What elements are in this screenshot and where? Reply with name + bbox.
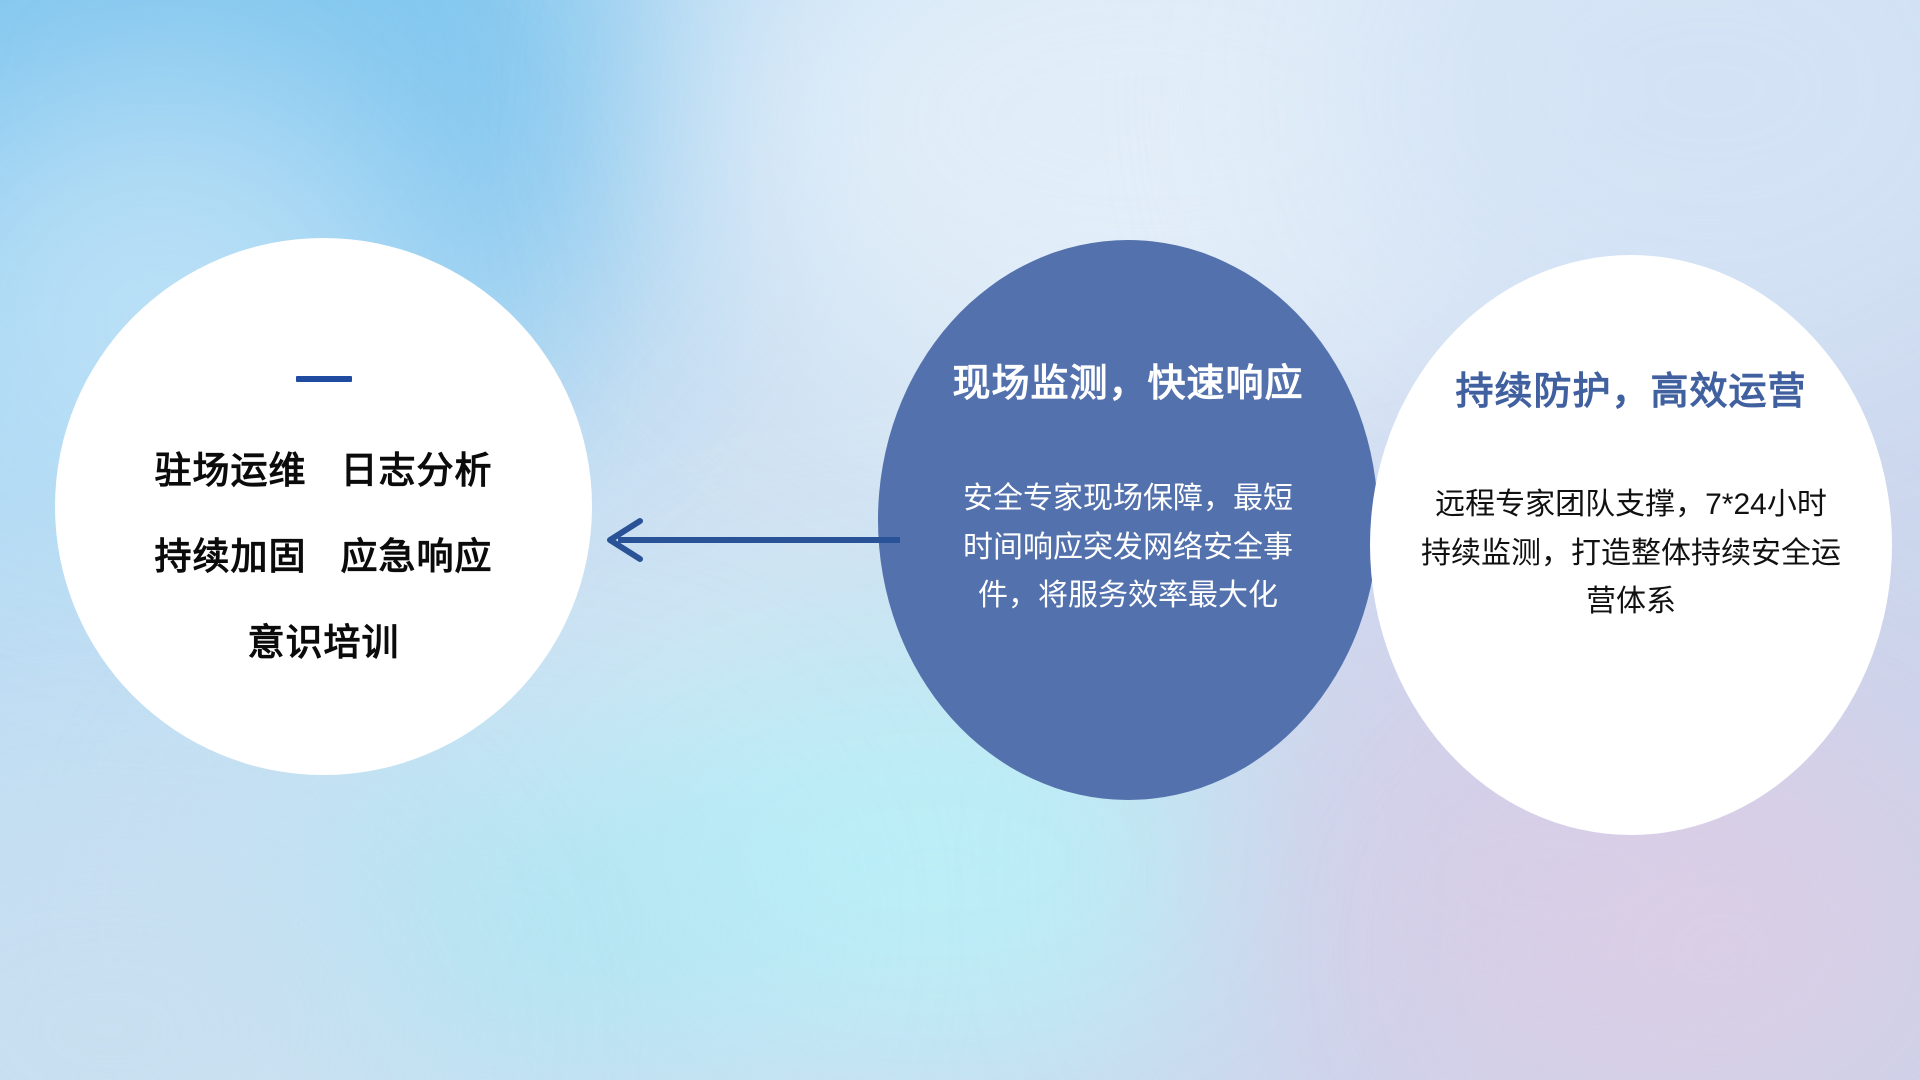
left-circle-content: 驻场运维日志分析 持续加固应急响应 意识培训 bbox=[55, 238, 592, 775]
keyword-yingji-xiangying: 应急响应 bbox=[341, 536, 493, 577]
left-circle-keyword-row-3: 意识培训 bbox=[248, 612, 400, 666]
left-circle-divider bbox=[296, 376, 352, 382]
keyword-rizhi-fenxi: 日志分析 bbox=[341, 450, 493, 491]
middle-circle-body: 安全专家现场保障，最短时间响应突发网络安全事件，将服务效率最大化 bbox=[954, 475, 1302, 621]
left-circle-keyword-row-2: 持续加固应急响应 bbox=[155, 526, 493, 580]
middle-circle-content: 现场监测，快速响应 安全专家现场保障，最短时间响应突发网络安全事件，将服务效率最… bbox=[878, 240, 1378, 800]
keyword-zhuchang-yunwei: 驻场运维 bbox=[155, 450, 307, 491]
arrow-left-icon bbox=[600, 505, 900, 575]
middle-circle-title: 现场监测，快速响应 bbox=[952, 352, 1303, 407]
slide-canvas: 驻场运维日志分析 持续加固应急响应 意识培训 现场监测，快速响应 安全专家现场保… bbox=[0, 0, 1920, 1080]
right-circle-title: 持续防护，高效运营 bbox=[1455, 360, 1806, 415]
left-circle-keyword-list: 驻场运维日志分析 持续加固应急响应 意识培训 bbox=[155, 440, 493, 666]
flow-arrow bbox=[600, 505, 900, 575]
left-circle-keyword-row-1: 驻场运维日志分析 bbox=[155, 440, 493, 494]
keyword-chixu-jiagu: 持续加固 bbox=[155, 536, 307, 577]
right-circle-content: 持续防护，高效运营 远程专家团队支撑，7*24小时持续监测，打造整体持续安全运营… bbox=[1370, 255, 1892, 835]
right-circle-body: 远程专家团队支撑，7*24小时持续监测，打造整体持续安全运营体系 bbox=[1421, 481, 1841, 627]
